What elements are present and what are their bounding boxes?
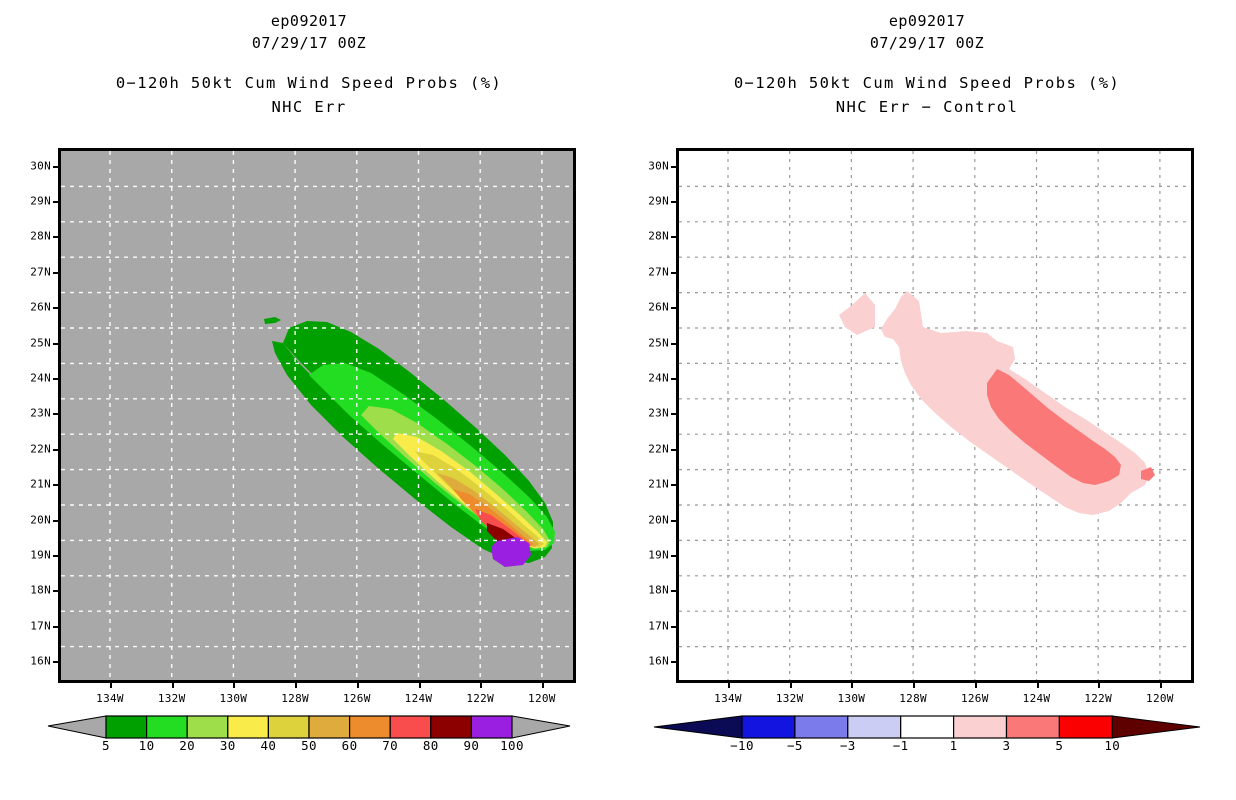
x-tick bbox=[1037, 683, 1039, 688]
y-tick-label: 25N bbox=[648, 336, 669, 349]
y-tick-label: 30N bbox=[648, 159, 669, 172]
y-tick-label: 25N bbox=[30, 336, 51, 349]
y-tick-label: 21N bbox=[30, 478, 51, 491]
y-tick-label: 16N bbox=[648, 655, 669, 668]
x-tick-label: 122W bbox=[466, 692, 494, 705]
y-tick-label: 22N bbox=[30, 442, 51, 455]
colorbar-tick-label: 70 bbox=[382, 738, 398, 753]
y-tick bbox=[671, 626, 676, 628]
y-tick bbox=[671, 343, 676, 345]
plot-area-left: 30N 29N 28N 27N 26N 25N 24N 23N 22N 21N … bbox=[58, 148, 576, 683]
y-tick bbox=[53, 378, 58, 380]
storm-id-right: ep092017 bbox=[618, 10, 1236, 32]
y-tick bbox=[53, 484, 58, 486]
colorbar-tick-label: 10 bbox=[139, 738, 155, 753]
panel-right: ep092017 07/29/17 00Z 0−120h 50kt Cum Wi… bbox=[618, 0, 1236, 800]
y-tick-label: 27N bbox=[30, 265, 51, 278]
y-tick bbox=[53, 166, 58, 168]
y-tick bbox=[53, 236, 58, 238]
colorbar-tick-label: 5 bbox=[102, 738, 110, 753]
y-tick-label: 16N bbox=[30, 655, 51, 668]
x-tick bbox=[480, 683, 482, 688]
colorbar-tick-label: 10 bbox=[1104, 738, 1120, 753]
x-tick-label: 132W bbox=[158, 692, 186, 705]
y-tick-label: 28N bbox=[30, 230, 51, 243]
colorbar-tick-label: 60 bbox=[342, 738, 358, 753]
y-tick-label: 29N bbox=[30, 195, 51, 208]
colorbar-right: −10 −5 −3 −1 1 3 5 10 bbox=[618, 712, 1236, 772]
x-tick bbox=[1098, 683, 1100, 688]
x-tick bbox=[542, 683, 544, 688]
x-tick bbox=[913, 683, 915, 688]
colorbar-right-swatches bbox=[618, 712, 1236, 752]
y-tick bbox=[671, 661, 676, 663]
x-tick-label: 124W bbox=[405, 692, 433, 705]
y-tick bbox=[671, 166, 676, 168]
colorbar-block bbox=[187, 716, 228, 738]
y-tick bbox=[53, 449, 58, 451]
colorbar-block bbox=[147, 716, 188, 738]
diff-band-1-3 bbox=[839, 293, 875, 335]
colorbar-block bbox=[268, 716, 309, 738]
colorbar-block bbox=[228, 716, 269, 738]
y-tick bbox=[671, 484, 676, 486]
panel-left-titles: ep092017 07/29/17 00Z 0−120h 50kt Cum Wi… bbox=[0, 10, 618, 118]
y-tick bbox=[671, 413, 676, 415]
y-tick-label: 28N bbox=[648, 230, 669, 243]
y-tick bbox=[53, 590, 58, 592]
colorbar-tick-label: −1 bbox=[893, 738, 909, 753]
panel-right-titles: ep092017 07/29/17 00Z 0−120h 50kt Cum Wi… bbox=[618, 10, 1236, 118]
y-tick bbox=[671, 449, 676, 451]
y-tick bbox=[53, 272, 58, 274]
y-tick bbox=[53, 343, 58, 345]
y-tick bbox=[53, 626, 58, 628]
colorbar-block bbox=[901, 716, 954, 738]
colorbar-block bbox=[954, 716, 1007, 738]
y-tick-label: 21N bbox=[648, 478, 669, 491]
y-tick bbox=[671, 307, 676, 309]
x-tick bbox=[110, 683, 112, 688]
y-tick bbox=[53, 307, 58, 309]
colorbar-block bbox=[471, 716, 512, 738]
y-tick bbox=[53, 413, 58, 415]
y-tick-label: 19N bbox=[648, 549, 669, 562]
x-tick-label: 130W bbox=[220, 692, 248, 705]
contour-fills-left bbox=[264, 317, 555, 567]
colorbar-block bbox=[431, 716, 472, 738]
x-tick bbox=[728, 683, 730, 688]
y-tick bbox=[671, 236, 676, 238]
colorbar-block bbox=[390, 716, 431, 738]
y-tick-label: 18N bbox=[648, 584, 669, 597]
colorbar-blocks bbox=[106, 716, 512, 738]
colorbar-tick-label: −10 bbox=[730, 738, 754, 753]
colorbar-cap-high bbox=[512, 716, 570, 738]
panel-left: ep092017 07/29/17 00Z 0−120h 50kt Cum Wi… bbox=[0, 0, 618, 800]
x-tick-label: 126W bbox=[961, 692, 989, 705]
y-tick bbox=[671, 272, 676, 274]
storm-id-left: ep092017 bbox=[0, 10, 618, 32]
y-tick-label: 17N bbox=[30, 619, 51, 632]
y-tick-label: 27N bbox=[648, 265, 669, 278]
colorbar-tick-label: −5 bbox=[787, 738, 803, 753]
y-tick-label: 23N bbox=[648, 407, 669, 420]
y-tick-label: 22N bbox=[648, 442, 669, 455]
x-tick-label: 124W bbox=[1023, 692, 1051, 705]
plot-area-right: 30N 29N 28N 27N 26N 25N 24N 23N 22N 21N … bbox=[676, 148, 1194, 683]
contour-speck bbox=[264, 317, 281, 324]
y-tick-label: 24N bbox=[30, 372, 51, 385]
colorbar-tick-label: 1 bbox=[950, 738, 958, 753]
colorbar-tick-label: −3 bbox=[840, 738, 856, 753]
x-tick bbox=[233, 683, 235, 688]
y-tick-label: 20N bbox=[648, 513, 669, 526]
contour-fills-right bbox=[839, 291, 1155, 515]
x-tick-label: 130W bbox=[838, 692, 866, 705]
y-tick bbox=[53, 661, 58, 663]
x-tick bbox=[295, 683, 297, 688]
y-tick-label: 18N bbox=[30, 584, 51, 597]
y-tick-label: 19N bbox=[30, 549, 51, 562]
x-tick-label: 120W bbox=[528, 692, 556, 705]
valid-time-left: 07/29/17 00Z bbox=[0, 32, 618, 54]
x-tick bbox=[851, 683, 853, 688]
chart-subtitle-right: NHC Err − Control bbox=[618, 96, 1236, 118]
y-tick-label: 29N bbox=[648, 195, 669, 208]
colorbar-cap-low bbox=[48, 716, 106, 738]
x-tick-label: 128W bbox=[899, 692, 927, 705]
colorbar-block bbox=[848, 716, 901, 738]
x-tick-label: 134W bbox=[714, 692, 742, 705]
colorbar-tick-label: 80 bbox=[423, 738, 439, 753]
y-tick-label: 30N bbox=[30, 159, 51, 172]
colorbar-blocks bbox=[742, 716, 1112, 738]
plot-frame-left bbox=[58, 148, 576, 683]
colorbar-block bbox=[106, 716, 147, 738]
x-tick-label: 134W bbox=[96, 692, 124, 705]
colorbar-cap-low bbox=[654, 716, 742, 738]
y-tick-label: 26N bbox=[648, 301, 669, 314]
plot-frame-right bbox=[676, 148, 1194, 683]
colorbar-tick-label: 90 bbox=[463, 738, 479, 753]
colorbar-tick-label: 50 bbox=[301, 738, 317, 753]
y-tick bbox=[671, 201, 676, 203]
y-tick bbox=[671, 378, 676, 380]
y-tick-label: 23N bbox=[30, 407, 51, 420]
colorbar-tick-label: 30 bbox=[220, 738, 236, 753]
colorbar-tick-label: 5 bbox=[1055, 738, 1063, 753]
colorbar-cap-high bbox=[1112, 716, 1200, 738]
colorbar-tick-label: 20 bbox=[179, 738, 195, 753]
contour-band-100 bbox=[491, 537, 531, 567]
x-tick-label: 132W bbox=[776, 692, 804, 705]
colorbar-block bbox=[1007, 716, 1060, 738]
colorbar-block bbox=[795, 716, 848, 738]
x-tick-label: 126W bbox=[343, 692, 371, 705]
y-tick bbox=[671, 520, 676, 522]
x-tick-label: 122W bbox=[1084, 692, 1112, 705]
colorbar-tick-label: 3 bbox=[1003, 738, 1011, 753]
colorbar-tick-label: 100 bbox=[500, 738, 524, 753]
colorbar-block bbox=[309, 716, 350, 738]
valid-time-right: 07/29/17 00Z bbox=[618, 32, 1236, 54]
y-tick-label: 26N bbox=[30, 301, 51, 314]
chart-title-right: 0−120h 50kt Cum Wind Speed Probs (%) bbox=[618, 71, 1236, 96]
x-tick bbox=[1160, 683, 1162, 688]
contour-map-right bbox=[679, 151, 1191, 680]
colorbar-left: 5 10 20 30 40 50 60 70 80 90 100 bbox=[0, 712, 618, 772]
colorbar-block bbox=[742, 716, 795, 738]
chart-subtitle-left: NHC Err bbox=[0, 96, 618, 118]
y-tick-label: 17N bbox=[648, 619, 669, 632]
y-tick bbox=[671, 555, 676, 557]
x-tick-label: 128W bbox=[281, 692, 309, 705]
x-tick bbox=[975, 683, 977, 688]
gridlines-left bbox=[61, 151, 573, 680]
x-tick bbox=[419, 683, 421, 688]
y-tick bbox=[53, 201, 58, 203]
colorbar-block bbox=[350, 716, 391, 738]
gridlines-right bbox=[679, 151, 1191, 680]
x-tick-label: 120W bbox=[1146, 692, 1174, 705]
y-tick-label: 24N bbox=[648, 372, 669, 385]
colorbar-tick-label: 40 bbox=[260, 738, 276, 753]
x-tick bbox=[172, 683, 174, 688]
colorbar-block bbox=[1059, 716, 1112, 738]
y-tick-label: 20N bbox=[30, 513, 51, 526]
y-tick bbox=[53, 520, 58, 522]
x-tick bbox=[357, 683, 359, 688]
y-tick bbox=[53, 555, 58, 557]
x-tick bbox=[790, 683, 792, 688]
chart-title-left: 0−120h 50kt Cum Wind Speed Probs (%) bbox=[0, 71, 618, 96]
y-tick bbox=[671, 590, 676, 592]
contour-map-left bbox=[61, 151, 573, 680]
